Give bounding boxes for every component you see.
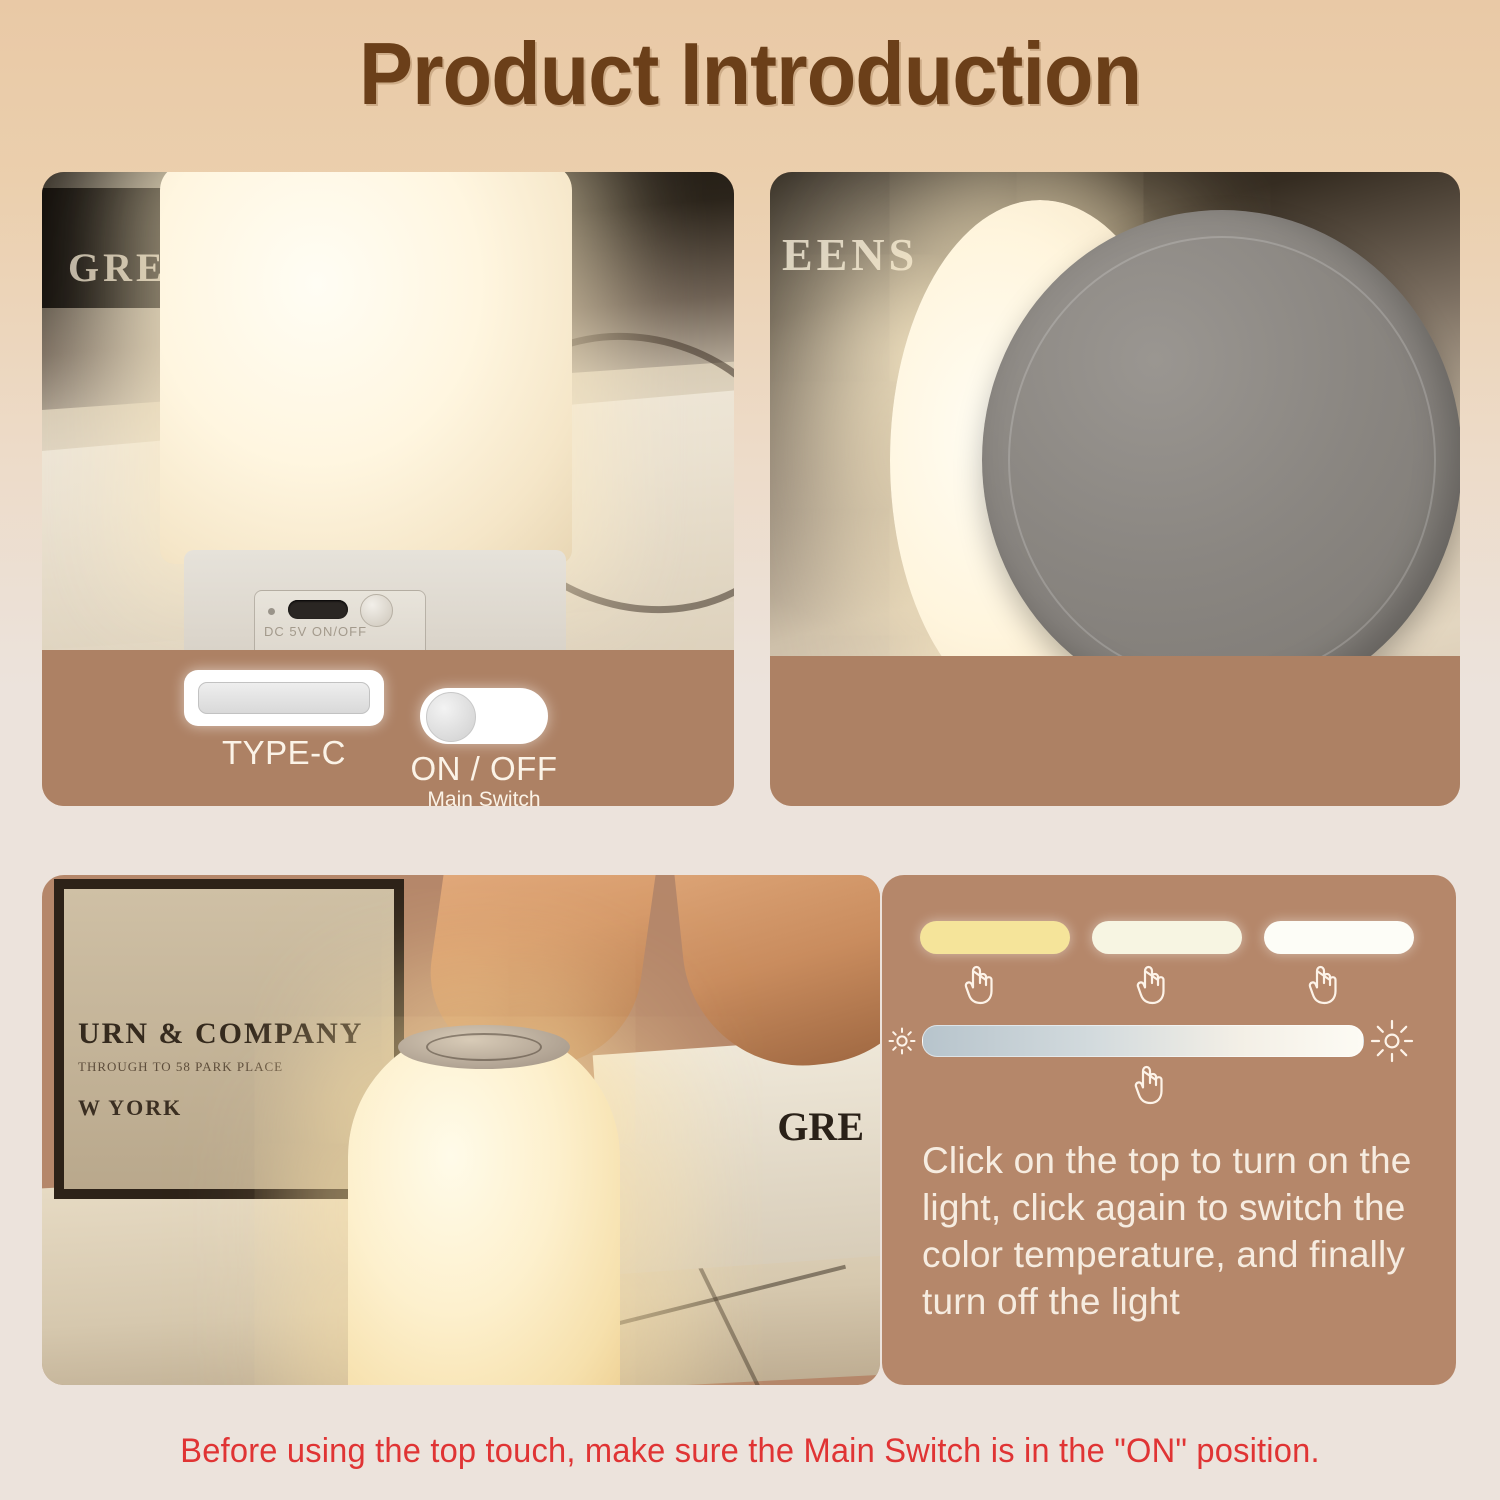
toggle-switch-knob-icon bbox=[426, 692, 476, 742]
panel-touch-instructions: Click on the top to turn on the light, c… bbox=[882, 875, 1456, 1385]
color-temp-pill-natural[interactable] bbox=[1092, 921, 1242, 954]
power-knob-icon bbox=[360, 594, 393, 627]
color-temp-step-warm[interactable] bbox=[920, 921, 1070, 954]
photo-book bbox=[593, 1035, 880, 1275]
brightness-slider-row[interactable] bbox=[882, 1011, 1456, 1121]
caption-strip-top-left: TYPE-C ON / OFF Main Switch bbox=[42, 650, 734, 806]
lamp-touch-top-icon bbox=[398, 1025, 570, 1069]
caption-strip-top-right bbox=[770, 656, 1460, 806]
sun-large-icon bbox=[1370, 1019, 1414, 1063]
pointing-hand-icon bbox=[1130, 961, 1170, 1009]
page-title: Product Introduction bbox=[359, 26, 1141, 122]
frame-text-line-2: THROUGH TO 58 PARK PLACE bbox=[78, 1059, 283, 1075]
frame-text-line-1: URN & COMPANY bbox=[78, 1017, 363, 1051]
color-temp-pill-cool[interactable] bbox=[1264, 921, 1414, 954]
panel-lamp-bottom-cap: EENS bbox=[770, 172, 1460, 806]
pointing-hand-icon bbox=[1128, 1061, 1168, 1109]
footer-warning-note: Before using the top touch, make sure th… bbox=[30, 1432, 1470, 1471]
color-temp-step-cool[interactable] bbox=[1264, 921, 1414, 954]
color-temp-step-natural[interactable] bbox=[1092, 921, 1242, 954]
pointing-hand-icon bbox=[958, 961, 998, 1009]
book-spine-text: GRE bbox=[777, 1103, 864, 1150]
lamp-base-marking: DC 5V ON/OFF bbox=[264, 624, 367, 639]
page-title-wrap: Product Introduction bbox=[0, 26, 1500, 122]
lamp-base-photo: GREENS DC 5V ON/OFF bbox=[42, 172, 734, 650]
lamp-shade bbox=[348, 1027, 620, 1385]
lamp-touch-photo: URN & COMPANY THROUGH TO 58 PARK PLACE W… bbox=[42, 875, 880, 1385]
pointing-hand-icon bbox=[1302, 961, 1342, 1009]
color-temp-pill-warm[interactable] bbox=[920, 921, 1070, 954]
touch-instruction-text: Click on the top to turn on the light, c… bbox=[922, 1137, 1422, 1325]
typec-label: TYPE-C bbox=[184, 734, 384, 772]
frame-text-line-3: W YORK bbox=[78, 1095, 182, 1121]
onoff-label: ON / OFF bbox=[394, 750, 574, 788]
lamp-bottom-cap bbox=[982, 210, 1460, 710]
photo-book-text: EENS bbox=[782, 228, 918, 281]
usb-c-port-icon bbox=[184, 670, 384, 726]
lamp-base-port-plate bbox=[254, 590, 426, 650]
panel-lamp-base-ports: GREENS DC 5V ON/OFF TYPE-C ON / OFF Main… bbox=[42, 172, 734, 806]
brightness-slider-track[interactable] bbox=[922, 1025, 1364, 1057]
usb-c-port-icon bbox=[288, 600, 348, 619]
lamp-shade bbox=[160, 172, 572, 564]
main-switch-sublabel: Main Switch bbox=[394, 788, 574, 806]
sun-small-icon bbox=[888, 1027, 916, 1055]
indicator-led-icon bbox=[268, 608, 275, 615]
panel-lamp-touch-demo: URN & COMPANY THROUGH TO 58 PARK PLACE W… bbox=[42, 875, 880, 1385]
